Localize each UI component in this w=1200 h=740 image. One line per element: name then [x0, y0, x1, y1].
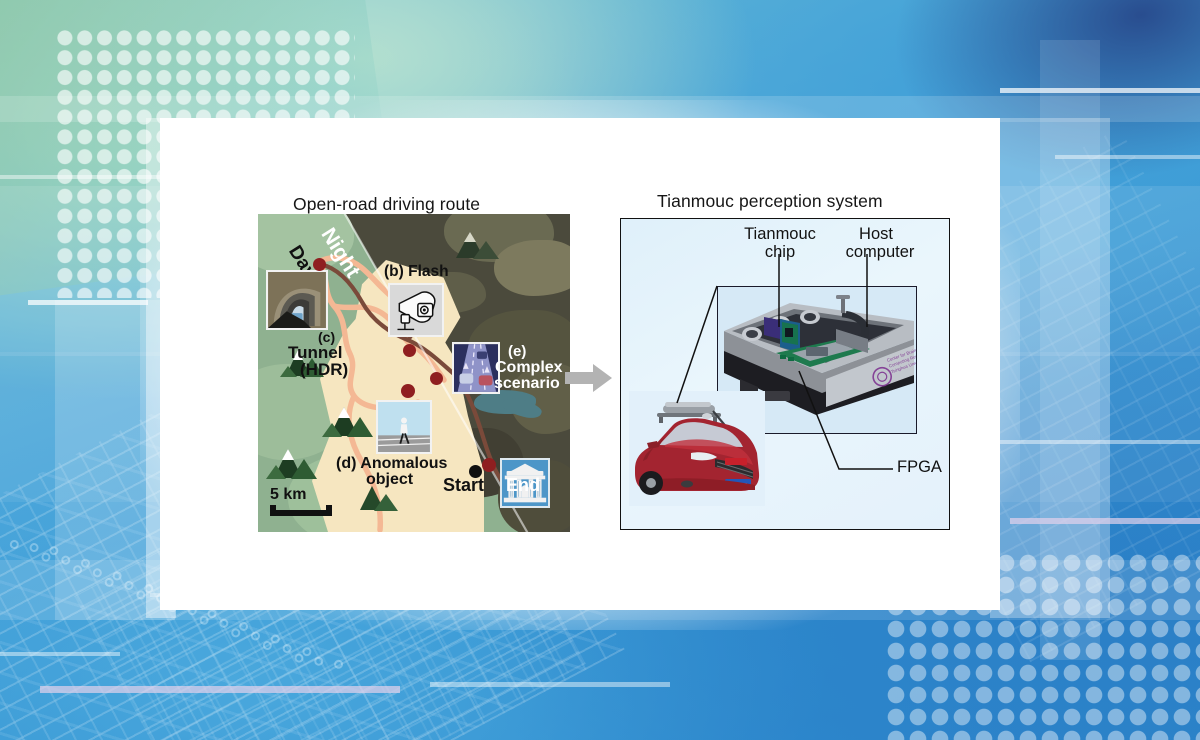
light-streak-3 [0, 175, 160, 179]
circuit-pad [249, 630, 261, 642]
map-label-e-complex: Complex [495, 360, 563, 376]
route-marker-flash[interactable] [403, 344, 416, 357]
annotation-tianmouc-chip-line1: Tianmouc [737, 225, 823, 243]
circuit-pad [8, 538, 20, 550]
bg-block-left [55, 300, 175, 620]
map-label-c-hdr: (HDR) [300, 361, 348, 378]
map-label-e-tag: (e) [508, 344, 526, 359]
map-scale-bar: 5 km [270, 486, 332, 516]
map-label-c-tunnel: Tunnel [288, 344, 342, 361]
light-streak-7 [40, 686, 400, 693]
map-label-e-scenario: scenario [494, 376, 560, 392]
pedestrian-icon [378, 402, 430, 452]
light-streak-2 [1055, 155, 1200, 159]
right-arrow-icon [565, 363, 613, 393]
circuit-pad [281, 642, 293, 654]
route-marker-complex[interactable] [430, 372, 443, 385]
thumbnail-flash[interactable] [388, 283, 444, 337]
bg-column-right-2 [1040, 40, 1100, 660]
map-scale-ruler [270, 505, 332, 516]
light-streak-9 [0, 652, 120, 656]
panel-title-right: Tianmouc perception system [657, 191, 883, 212]
route-marker-anomaly[interactable] [401, 384, 415, 398]
annotation-leader-lines [621, 219, 950, 530]
thumbnail-complex-scenario[interactable] [452, 342, 500, 394]
mountain-icon-2 [322, 404, 378, 442]
light-streak-5 [1000, 440, 1200, 444]
annotation-fpga: FPGA [897, 458, 950, 476]
traffic-lanes-icon [454, 344, 498, 392]
map-scale-label: 5 km [270, 486, 332, 504]
circuit-pad [28, 541, 40, 553]
annotation-host-computer-line1: Host [833, 225, 919, 243]
thumbnail-anomalous-object[interactable] [376, 400, 432, 454]
map-label-start: Start [443, 476, 484, 494]
speed-camera-icon [390, 285, 442, 335]
route-marker-tunnel[interactable] [313, 258, 326, 271]
map-label-end: End [506, 476, 540, 494]
circuit-pad [313, 655, 325, 667]
figure: Open-road driving route Tianmouc percept… [160, 118, 1000, 610]
perception-system-panel[interactable]: Center for Brain-Inspired Computing Rese… [620, 218, 950, 530]
map-label-d-line1: (d) Anomalous [336, 456, 447, 472]
map-label-d-line2: object [366, 472, 413, 488]
light-streak-4 [28, 300, 148, 305]
map-label-b-flash: (b) Flash [384, 264, 449, 280]
thumbnail-tunnel[interactable] [266, 270, 328, 330]
driving-route-map[interactable]: Day Night (c) Tunnel (HDR) [258, 214, 570, 532]
annotation-host-computer-line2: computer [827, 243, 933, 261]
panel-title-left: Open-road driving route [293, 194, 480, 215]
light-streak-8 [430, 682, 670, 687]
tunnel-icon [268, 272, 326, 328]
circuit-pad [332, 658, 344, 670]
annotation-tianmouc-chip-line2: chip [737, 243, 823, 261]
light-streak-6 [1010, 518, 1200, 524]
route-marker-end[interactable] [482, 458, 496, 472]
light-streak-1 [1000, 88, 1200, 93]
mountain-icon-3 [266, 446, 322, 484]
mountain-icon-5 [448, 228, 504, 264]
